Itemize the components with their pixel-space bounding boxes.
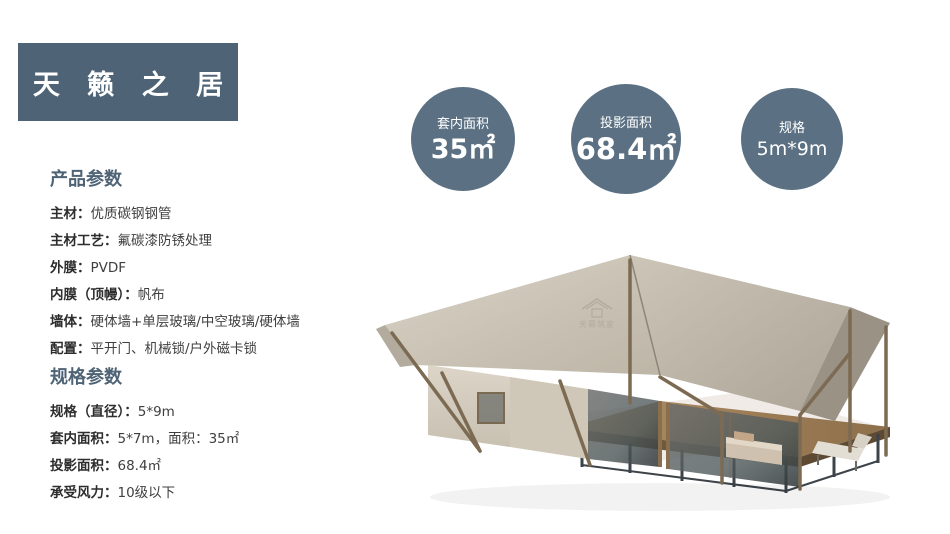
section-specification-parameters: 规格参数 规格（直径）：5*9m 套内面积：5*7m，面积：35㎡ 投影面积：6… xyxy=(50,363,239,507)
spec-value: 硬体墙+单层玻璃/中空玻璃/硬体墙 xyxy=(91,314,300,330)
badge-value: 68.4㎡ xyxy=(576,135,677,164)
watermark-text: 天幕筑家 xyxy=(579,319,615,330)
badge-interior-area: 套内面积 35㎡ xyxy=(411,87,515,191)
spec-row: 墙体：硬体墙+单层玻璃/中空玻璃/硬体墙 xyxy=(50,309,300,336)
spec-label: 外膜： xyxy=(50,260,91,276)
spec-value: 氟碳漆防锈处理 xyxy=(118,233,213,249)
tent-render-svg xyxy=(330,215,940,515)
spec-value: 帆布 xyxy=(138,287,165,303)
badge-dimensions: 规格 5m*9m xyxy=(741,88,843,190)
section-product-parameters: 产品参数 主材：优质碳钢钢管 主材工艺：氟碳漆防锈处理 外膜：PVDF 内膜（顶… xyxy=(50,165,300,363)
spec-value: 平开门、机械锁/户外磁卡锁 xyxy=(91,341,258,357)
spec-list: 规格（直径）：5*9m 套内面积：5*7m，面积：35㎡ 投影面积：68.4㎡ … xyxy=(50,399,239,507)
watermark: 天幕筑家 xyxy=(552,292,642,334)
spec-value: 10级以下 xyxy=(118,485,176,501)
spec-label: 墙体： xyxy=(50,314,91,330)
section-heading: 产品参数 xyxy=(50,165,300,191)
spec-row: 套内面积：5*7m，面积：35㎡ xyxy=(50,426,239,453)
badge-label: 投影面积 xyxy=(600,115,652,133)
spec-row: 承受风力：10级以下 xyxy=(50,480,239,507)
spec-label: 套内面积： xyxy=(50,431,118,447)
ground-shadow xyxy=(430,483,890,511)
spec-label: 内膜（顶幔）： xyxy=(50,287,138,303)
badge-value: 5m*9m xyxy=(757,140,828,159)
spec-label: 投影面积： xyxy=(50,458,118,474)
title-banner: 天 籁 之 居 xyxy=(18,43,238,121)
spec-label: 承受风力： xyxy=(50,485,118,501)
spec-row: 配置：平开门、机械锁/户外磁卡锁 xyxy=(50,336,300,363)
spec-row: 主材：优质碳钢钢管 xyxy=(50,201,300,228)
spec-value: PVDF xyxy=(91,260,127,276)
spec-value: 优质碳钢钢管 xyxy=(91,206,172,222)
badge-label: 规格 xyxy=(779,120,805,138)
spec-label: 主材： xyxy=(50,206,91,222)
page-title: 天 籁 之 居 xyxy=(24,63,232,102)
spec-row: 内膜（顶幔）：帆布 xyxy=(50,282,300,309)
spec-row: 规格（直径）：5*9m xyxy=(50,399,239,426)
badge-projected-area: 投影面积 68.4㎡ xyxy=(571,84,681,194)
spec-row: 主材工艺：氟碳漆防锈处理 xyxy=(50,228,300,255)
badge-label: 套内面积 xyxy=(437,116,489,134)
spec-value: 5*7m，面积：35㎡ xyxy=(118,431,240,447)
spec-value: 5*9m xyxy=(138,404,175,420)
house-logo-icon xyxy=(580,297,614,319)
badge-value: 35㎡ xyxy=(431,136,496,163)
tent-render-illustration xyxy=(330,215,940,515)
section-heading: 规格参数 xyxy=(50,363,239,389)
spec-value: 68.4㎡ xyxy=(118,458,162,474)
spec-label: 规格（直径）： xyxy=(50,404,138,420)
spec-row: 投影面积：68.4㎡ xyxy=(50,453,239,480)
spec-row: 外膜：PVDF xyxy=(50,255,300,282)
spec-list: 主材：优质碳钢钢管 主材工艺：氟碳漆防锈处理 外膜：PVDF 内膜（顶幔）：帆布… xyxy=(50,201,300,363)
spec-label: 配置： xyxy=(50,341,91,357)
spec-label: 主材工艺： xyxy=(50,233,118,249)
